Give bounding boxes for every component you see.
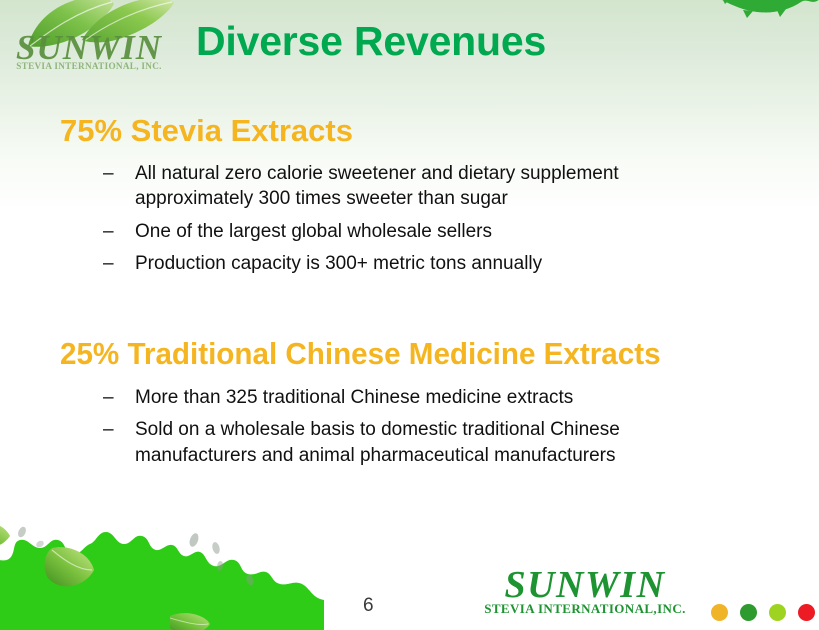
dot-red [798, 604, 815, 621]
list-item: – Sold on a wholesale basis to domestic … [103, 417, 743, 468]
dot-gold [711, 604, 728, 621]
page-number: 6 [363, 595, 374, 617]
footer-logo-subtitle: STEVIA INTERNATIONAL,INC. [455, 602, 715, 615]
list-item-text: One of the largest global wholesale sell… [135, 219, 725, 244]
dot-dark-green [740, 604, 757, 621]
bullet-list-stevia: – All natural zero calorie sweetener and… [103, 161, 743, 283]
bullet-dash-icon: – [103, 161, 135, 186]
bullet-dash-icon: – [103, 219, 135, 244]
list-item-text: Sold on a wholesale basis to domestic tr… [135, 417, 725, 468]
dot-light-green [769, 604, 786, 621]
list-item: – Production capacity is 300+ metric ton… [103, 251, 743, 276]
footer-logo-wordmark: SUNWIN [455, 566, 715, 604]
list-item-text: Production capacity is 300+ metric tons … [135, 251, 725, 276]
slide-canvas: SUNWIN STEVIA INTERNATIONAL, INC. Divers… [0, 0, 819, 630]
bullet-dash-icon: – [103, 251, 135, 276]
bullet-list-tcm: – More than 325 traditional Chinese medi… [103, 385, 743, 475]
footer-dot-group [711, 604, 815, 621]
list-item: – One of the largest global wholesale se… [103, 219, 743, 244]
bullet-dash-icon: – [103, 385, 135, 410]
list-item-text: More than 325 traditional Chinese medici… [135, 385, 725, 410]
slide-body: 75% Stevia Extracts – All natural zero c… [0, 0, 819, 630]
list-item-text: All natural zero calorie sweetener and d… [135, 161, 725, 212]
section-heading-stevia: 75% Stevia Extracts [60, 115, 353, 146]
section-heading-tcm: 25% Traditional Chinese Medicine Extract… [60, 338, 661, 369]
bullet-dash-icon: – [103, 417, 135, 442]
list-item: – More than 325 traditional Chinese medi… [103, 385, 743, 410]
list-item: – All natural zero calorie sweetener and… [103, 161, 743, 212]
footer-logo: SUNWIN STEVIA INTERNATIONAL,INC. [455, 566, 715, 618]
